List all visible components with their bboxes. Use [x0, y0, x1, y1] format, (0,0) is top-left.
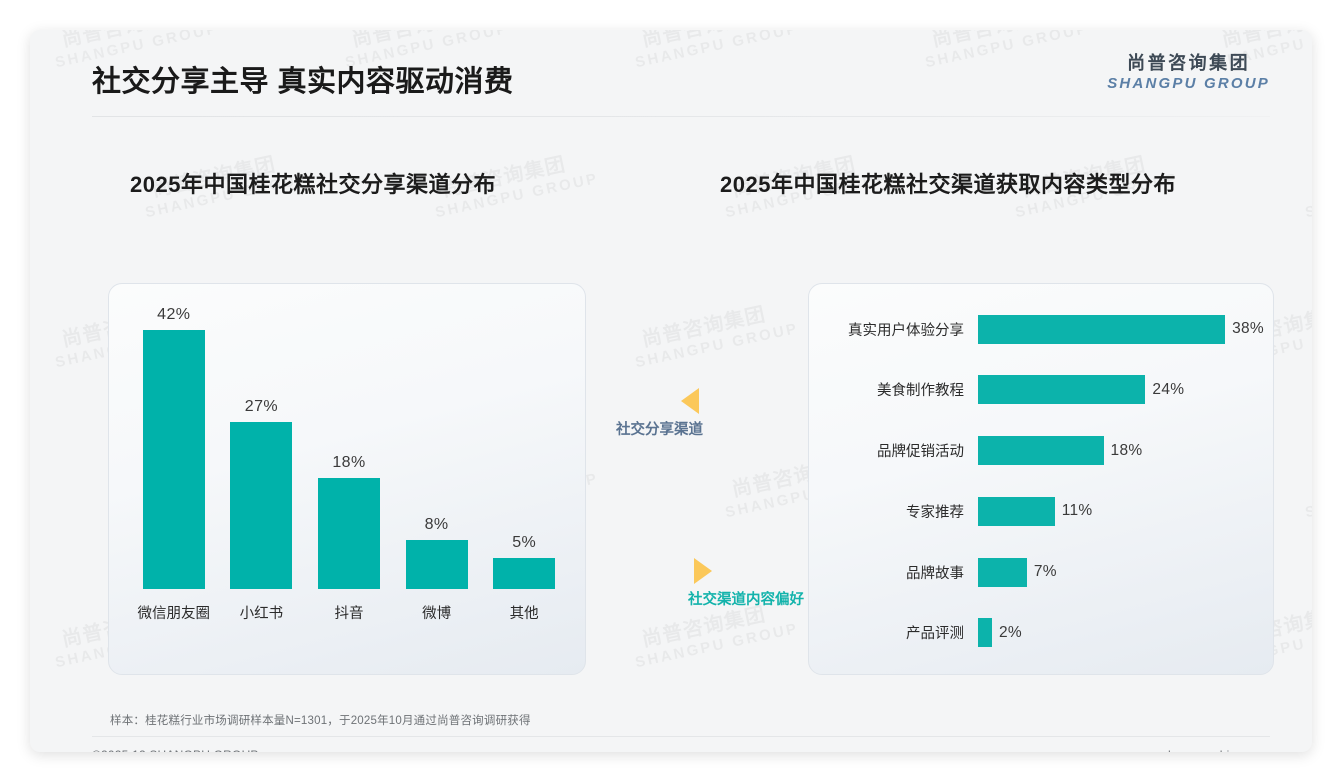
bar-fill[interactable] — [978, 497, 1055, 526]
bar-track: 2% — [978, 615, 1264, 651]
column-bar[interactable] — [230, 422, 292, 589]
bar-track: 24% — [978, 372, 1264, 408]
column-item[interactable]: 5%其他 — [493, 305, 555, 589]
brand-logo-cn: 尚普咨询集团 — [1107, 52, 1270, 75]
brand-logo-en: SHANGPU GROUP — [1107, 75, 1270, 94]
column-bar[interactable] — [406, 540, 468, 589]
column-value-label: 42% — [157, 306, 190, 324]
page-title: 社交分享主导 真实内容驱动消费 — [92, 58, 514, 100]
bar-category-label: 品牌促销活动 — [818, 440, 978, 461]
column-bar[interactable] — [318, 478, 380, 589]
bar-fill[interactable] — [978, 375, 1145, 404]
column-value-label: 5% — [512, 534, 536, 552]
bar-category-label: 产品评测 — [818, 622, 978, 643]
brand-logo: 尚普咨询集团 SHANGPU GROUP — [1107, 52, 1270, 94]
bar-category-label: 美食制作教程 — [818, 379, 978, 400]
column-value-label: 18% — [332, 454, 365, 472]
column-item[interactable]: 18%抖音 — [318, 305, 380, 589]
bar-row[interactable]: 产品评测2% — [818, 615, 1264, 651]
column-category-label: 其他 — [510, 602, 539, 623]
bar-category-label: 品牌故事 — [818, 562, 978, 583]
column-category-label: 微信朋友圈 — [138, 602, 211, 623]
watermark-tile: 尚普咨询集团SHANGPU GROUP — [700, 742, 890, 752]
watermark-tile: 尚普咨询集团SHANGPU GROUP — [1280, 742, 1312, 752]
content-type-bar-chart: 真实用户体验分享38%美食制作教程24%品牌促销活动18%专家推荐11%品牌故事… — [808, 283, 1274, 675]
column-plot-area: 42%微信朋友圈27%小红书18%抖音8%微博5%其他 — [130, 305, 568, 589]
bar-row[interactable]: 品牌促销活动18% — [818, 433, 1264, 469]
chart-title-right: 2025年中国桂花糕社交渠道获取内容类型分布 — [720, 167, 1176, 199]
column-category-label: 小红书 — [240, 602, 284, 623]
watermark-tile: 尚普咨询集团SHANGPU GROUP — [1280, 442, 1312, 525]
slide-card: 尚普咨询集团SHANGPU GROUP尚普咨询集团SHANGPU GROUP尚普… — [30, 30, 1312, 752]
bar-row[interactable]: 品牌故事7% — [818, 554, 1264, 590]
annotation-content-preference: 社交渠道内容偏好 — [688, 558, 804, 609]
triangle-left-icon — [681, 388, 699, 414]
bar-fill[interactable] — [978, 558, 1027, 587]
header-divider — [92, 116, 1270, 117]
bar-value-label: 24% — [1152, 381, 1184, 399]
bar-row[interactable]: 真实用户体验分享38% — [818, 311, 1264, 347]
source-note: 样本：桂花糕行业市场调研样本量N=1301，于2025年10月通过尚普咨询调研获… — [110, 712, 531, 728]
bar-track: 7% — [978, 554, 1264, 590]
bar-track: 11% — [978, 493, 1264, 529]
annotation-bottom-label: 社交渠道内容偏好 — [688, 588, 804, 609]
triangle-right-icon — [694, 558, 712, 584]
bar-fill[interactable] — [978, 436, 1104, 465]
chart-title-left: 2025年中国桂花糕社交分享渠道分布 — [130, 167, 496, 199]
column-item[interactable]: 42%微信朋友圈 — [143, 305, 205, 589]
watermark-tile: 尚普咨询集团SHANGPU GROUP — [610, 292, 800, 375]
column-item[interactable]: 8%微博 — [406, 305, 468, 589]
slide-header: 社交分享主导 真实内容驱动消费 尚普咨询集团 SHANGPU GROUP — [30, 30, 1312, 116]
watermark-tile: 尚普咨询集团SHANGPU GROUP — [410, 742, 600, 752]
bar-row[interactable]: 专家推荐11% — [818, 493, 1264, 529]
annotation-top-label: 社交分享渠道 — [616, 418, 703, 439]
bar-value-label: 2% — [999, 624, 1022, 642]
column-item[interactable]: 27%小红书 — [230, 305, 292, 589]
column-category-label: 抖音 — [334, 602, 363, 623]
column-bar[interactable] — [493, 558, 555, 589]
column-category-label: 微博 — [422, 602, 451, 623]
bar-track: 38% — [978, 311, 1264, 347]
bar-value-label: 7% — [1034, 563, 1057, 581]
column-value-label: 27% — [245, 398, 278, 416]
footer-divider — [92, 736, 1270, 737]
watermark-tile: 尚普咨询集团SHANGPU GROUP — [1280, 142, 1312, 225]
bar-category-label: 真实用户体验分享 — [818, 319, 978, 340]
column-value-label: 8% — [425, 516, 449, 534]
bar-value-label: 18% — [1111, 442, 1143, 460]
bar-value-label: 38% — [1232, 320, 1264, 338]
bar-fill[interactable] — [978, 315, 1225, 344]
footer-website: www.shangpu-china.com — [1132, 748, 1270, 752]
bar-row[interactable]: 美食制作教程24% — [818, 372, 1264, 408]
bar-track: 18% — [978, 433, 1264, 469]
bar-fill[interactable] — [978, 618, 992, 647]
social-share-channel-column-chart: 42%微信朋友圈27%小红书18%抖音8%微博5%其他 — [108, 283, 586, 675]
bar-value-label: 11% — [1062, 502, 1093, 520]
annotation-social-share-channel: 社交分享渠道 — [616, 388, 703, 439]
footer-copyright: ©2025.12 SHANGPU GROUP — [92, 748, 259, 752]
bar-category-label: 专家推荐 — [818, 501, 978, 522]
column-bar[interactable] — [143, 330, 205, 589]
